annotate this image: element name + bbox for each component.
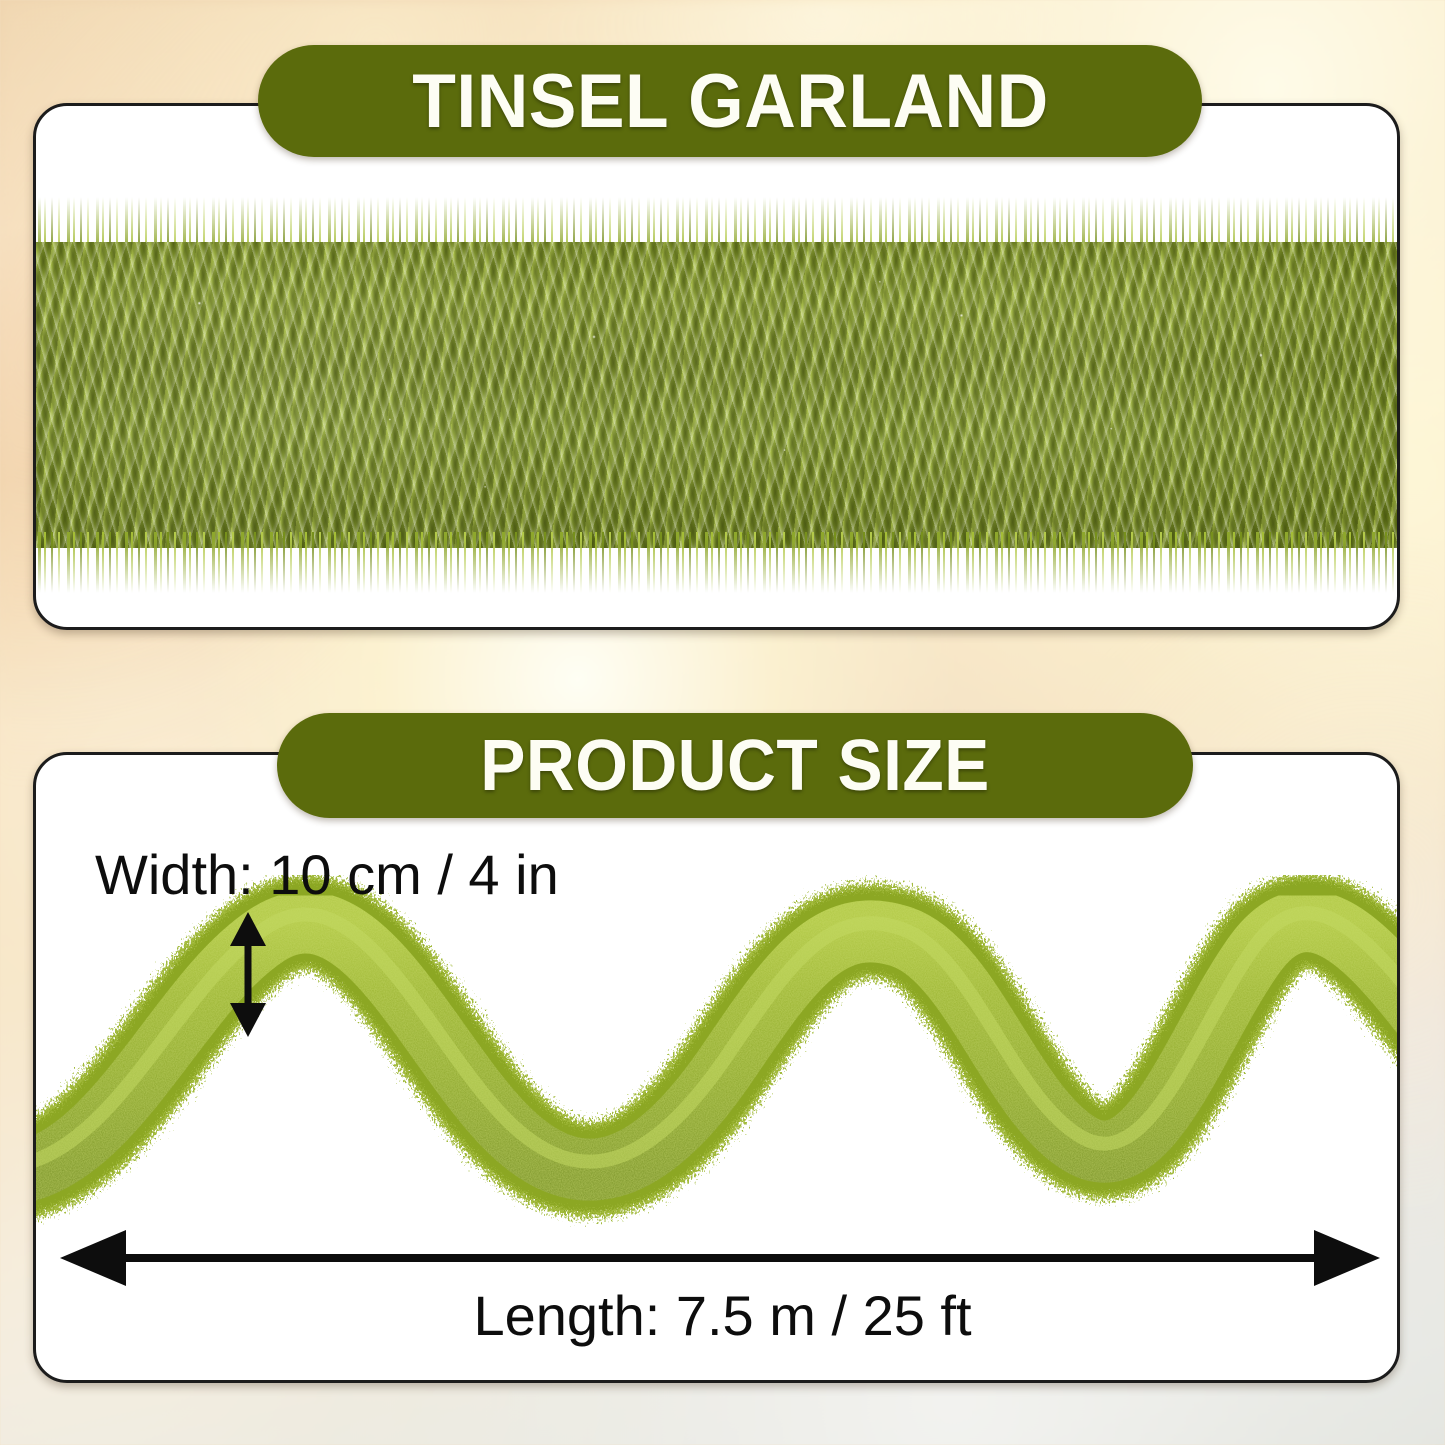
product-image-panel — [33, 103, 1400, 630]
badge-product-size-label: PRODUCT SIZE — [480, 725, 990, 807]
width-label: Width: 10 cm / 4 in — [95, 842, 559, 907]
tinsel-core — [36, 242, 1397, 548]
vertical-double-arrow-icon — [218, 912, 278, 1037]
badge-tinsel-garland-label: TINSEL GARLAND — [412, 58, 1048, 145]
horizontal-double-arrow-icon — [60, 1228, 1380, 1288]
length-label: Length: 7.5 m / 25 ft — [0, 1283, 1445, 1348]
badge-product-size: PRODUCT SIZE — [277, 713, 1193, 818]
badge-tinsel-garland: TINSEL GARLAND — [258, 45, 1202, 157]
tinsel-strip-image — [36, 196, 1397, 594]
tinsel-fringe-bottom — [36, 532, 1397, 594]
tinsel-sparkle-highlights — [36, 242, 1397, 548]
